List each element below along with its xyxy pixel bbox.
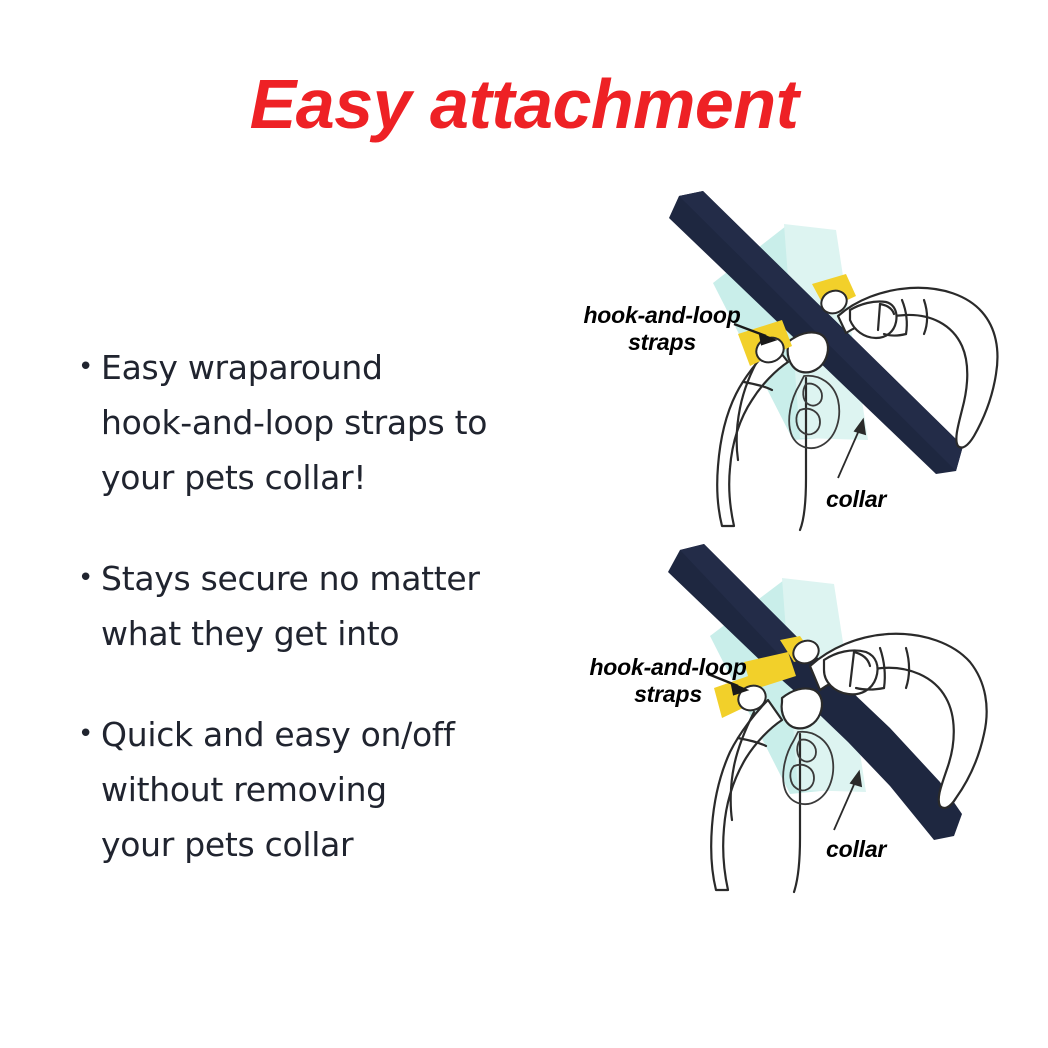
list-item-text: Easy wraparound hook-and-loop straps to … [101, 340, 558, 505]
bullet-dot-icon: • [78, 551, 93, 606]
list-item-line: hook-and-loop straps to [101, 403, 487, 442]
label-hook-and-loop-straps: hook-and-loop straps [546, 302, 778, 356]
label-hook-and-loop-straps: hook-and-loop straps [552, 654, 784, 708]
bullet-dot-icon: • [78, 707, 93, 762]
feature-list: • Easy wraparound hook-and-loop straps t… [78, 340, 558, 918]
label-collar: collar [826, 836, 886, 863]
page-title: Easy attachment [0, 66, 1048, 142]
closed-strap-drawing [538, 540, 1038, 900]
list-item-line: your pets collar [101, 825, 353, 864]
illustration-closed-strap: hook-and-loop straps collar [538, 540, 1038, 900]
label-collar: collar [826, 486, 886, 513]
list-item-line: what they get into [101, 614, 399, 653]
list-item-text: Quick and easy on/off without removing y… [101, 707, 558, 872]
list-item-line: Stays secure no matter [101, 559, 480, 598]
label-line-1: hook-and-loop [589, 654, 746, 680]
list-item: • Stays secure no matter what they get i… [78, 551, 558, 661]
list-item-line: Quick and easy on/off [101, 715, 454, 754]
list-item: • Easy wraparound hook-and-loop straps t… [78, 340, 558, 505]
illustration-open-strap: hook-and-loop straps collar [538, 178, 1038, 538]
list-item-line: Easy wraparound [101, 348, 383, 387]
list-item-text: Stays secure no matter what they get int… [101, 551, 558, 661]
label-line-2: straps [628, 329, 696, 355]
list-item-line: your pets collar! [101, 458, 366, 497]
label-line-2: straps [634, 681, 702, 707]
open-strap-drawing [538, 178, 1038, 538]
list-item: • Quick and easy on/off without removing… [78, 707, 558, 872]
label-line-1: hook-and-loop [583, 302, 740, 328]
bullet-dot-icon: • [78, 340, 93, 395]
list-item-line: without removing [101, 770, 387, 809]
promo-graphic: Easy attachment • Easy wraparound hook-a… [0, 0, 1048, 1048]
